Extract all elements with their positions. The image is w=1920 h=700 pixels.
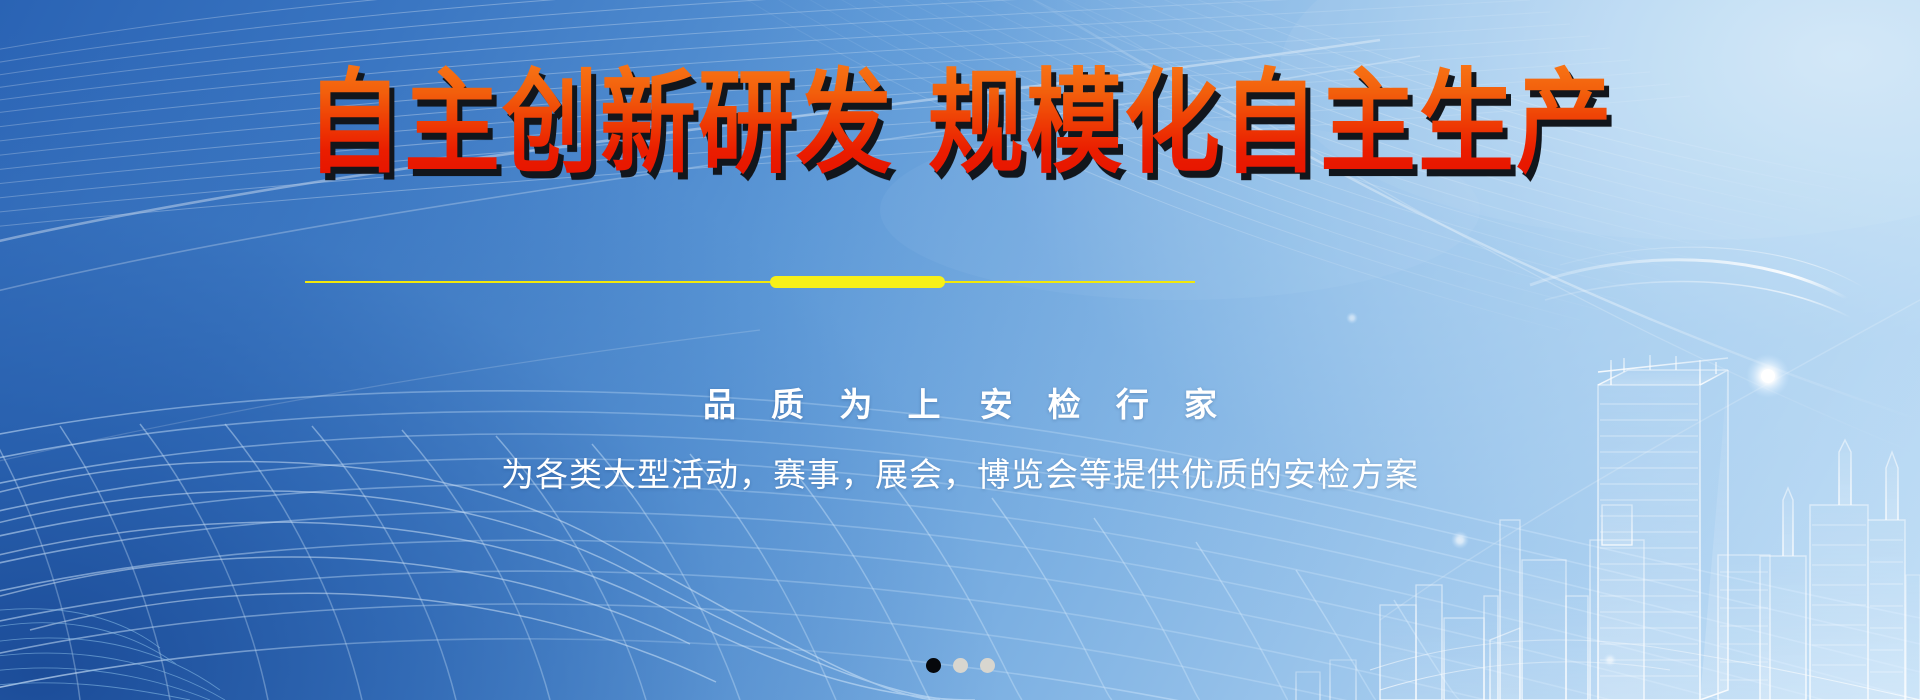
headline-part-1: 自主创新研发: [306, 57, 894, 189]
carousel-dot-3[interactable]: [980, 658, 995, 673]
subtitle-primary-left: 品 质 为 上: [703, 386, 954, 423]
subtitle-primary: 品 质 为 上安 检 行 家: [0, 378, 1920, 426]
carousel-indicators: [0, 658, 1920, 673]
carousel-dot-1[interactable]: [926, 658, 941, 673]
yellow-divider: [305, 276, 1195, 288]
divider-thin-line: [305, 281, 1195, 283]
banner-headline: 自主创新研发规模化自主生产: [0, 63, 1920, 185]
headline-part-2: 规模化自主生产: [928, 57, 1614, 189]
subtitle-primary-right: 安 检 行 家: [980, 386, 1231, 423]
carousel-dot-2[interactable]: [953, 658, 968, 673]
banner-content: 自主创新研发规模化自主生产 品 质 为 上安 检 行 家 为各类大型活动，赛事，…: [0, 0, 1920, 700]
hero-banner: 自主创新研发规模化自主生产 品 质 为 上安 检 行 家 为各类大型活动，赛事，…: [0, 0, 1920, 700]
divider-thick-bar: [770, 276, 945, 288]
subtitle-secondary: 为各类大型活动，赛事，展会，博览会等提供优质的安检方案: [0, 448, 1920, 496]
